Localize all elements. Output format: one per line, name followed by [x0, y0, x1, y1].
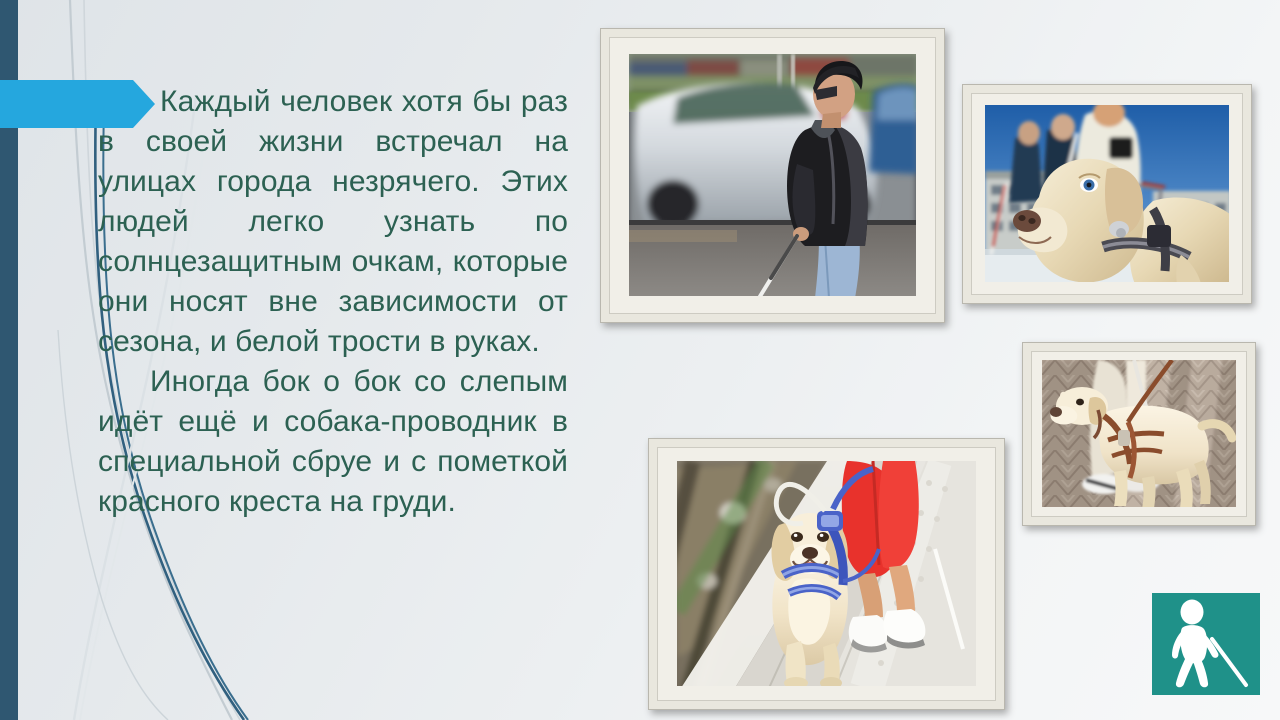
photo-frame-guide-dog-pavement[interactable]	[1022, 342, 1256, 526]
photo-frame-blind-man-street[interactable]	[600, 28, 945, 323]
photo-image-blind-man-street	[629, 54, 916, 296]
photo-frame-guide-dog-closeup[interactable]	[962, 84, 1252, 304]
photo-image-guide-dog-closeup	[985, 105, 1229, 282]
paragraph-1: Каждый человек хотя бы раз в своей жизни…	[98, 82, 568, 362]
paragraph-2: Иногда бок о бок со слепым идёт ещё и со…	[98, 362, 568, 522]
slide-body-text: Каждый человек хотя бы раз в своей жизни…	[98, 82, 568, 523]
blind-pedestrian-symbol-badge	[1152, 593, 1260, 695]
photo-frame-guide-dog-platform[interactable]	[648, 438, 1005, 710]
presentation-slide: Каждый человек хотя бы раз в своей жизни…	[0, 0, 1280, 720]
photo-image-guide-dog-pavement	[1042, 360, 1236, 507]
photo-image-guide-dog-platform	[677, 461, 976, 686]
